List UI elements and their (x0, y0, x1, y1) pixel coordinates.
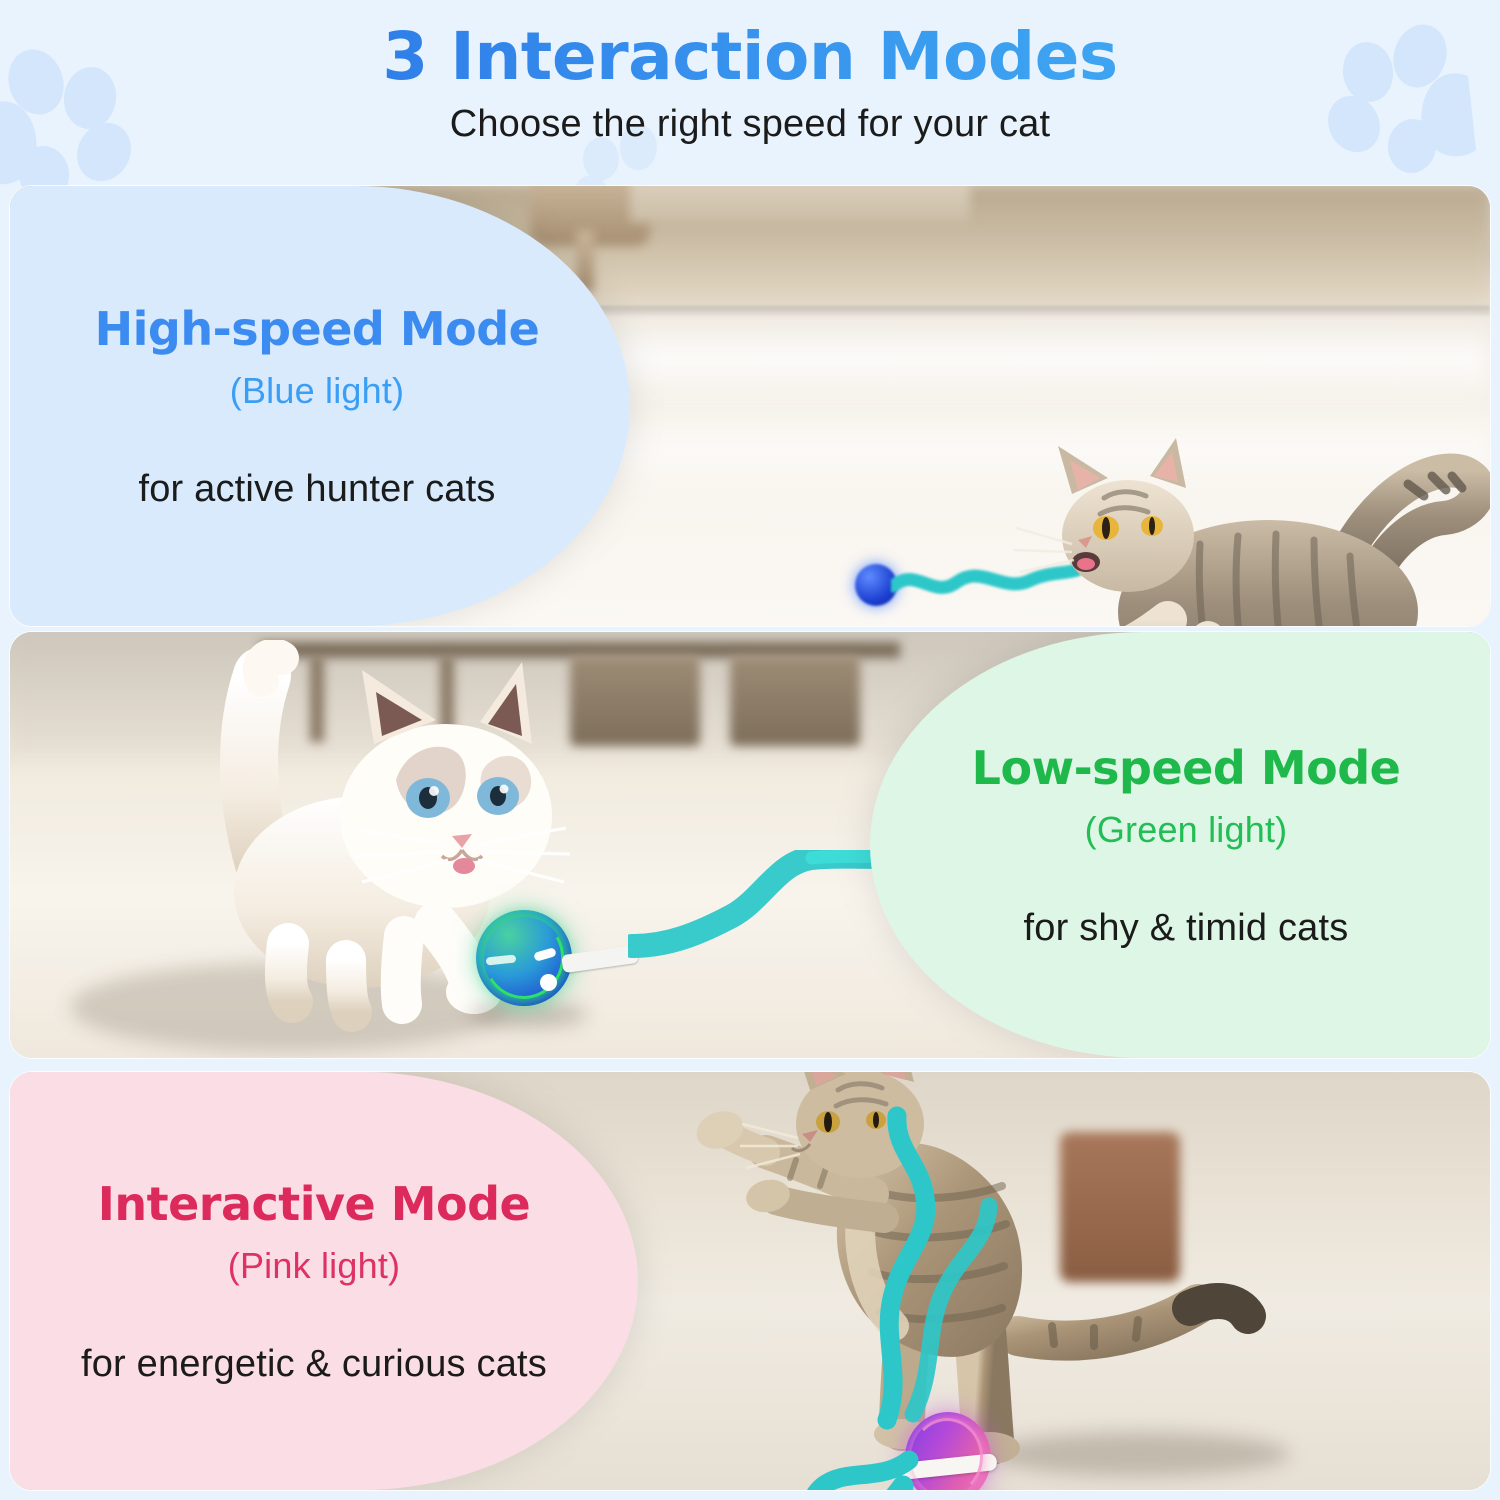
mode-panel-interactive: Interactive Mode (Pink light) for energe… (10, 1072, 638, 1490)
mode-card-high-speed: High-speed Mode (Blue light) for active … (10, 186, 1490, 626)
page-header: 3 Interaction Modes Choose the right spe… (0, 0, 1500, 180)
mode-panel-high-speed: High-speed Mode (Blue light) for active … (10, 186, 630, 626)
infographic-page: 3 Interaction Modes Choose the right spe… (0, 0, 1500, 1500)
mode-light-label: (Green light) (916, 809, 1456, 851)
mode-description: for shy & timid cats (916, 907, 1456, 950)
mode-description: for active hunter cats (44, 468, 590, 511)
mode-title: Interactive Mode (30, 1177, 598, 1231)
page-title: 3 Interaction Modes (0, 22, 1500, 91)
cat-ragdoll-kitten (150, 640, 670, 1045)
mode-title: High-speed Mode (44, 302, 590, 356)
cat-tabby-walking (1000, 432, 1490, 626)
mode-card-interactive: Interactive Mode (Pink light) for energe… (10, 1072, 1490, 1490)
mode-light-label: (Pink light) (30, 1245, 598, 1287)
furniture-body (630, 186, 970, 222)
chair (730, 656, 860, 746)
mode-panel-low-speed: Low-speed Mode (Green light) for shy & t… (870, 632, 1490, 1058)
mode-title: Low-speed Mode (916, 741, 1456, 795)
mode-card-low-speed: Low-speed Mode (Green light) for shy & t… (10, 632, 1490, 1058)
mode-light-label: (Blue light) (44, 370, 590, 412)
mode-description: for energetic & curious cats (30, 1343, 598, 1386)
page-subtitle: Choose the right speed for your cat (0, 103, 1500, 146)
